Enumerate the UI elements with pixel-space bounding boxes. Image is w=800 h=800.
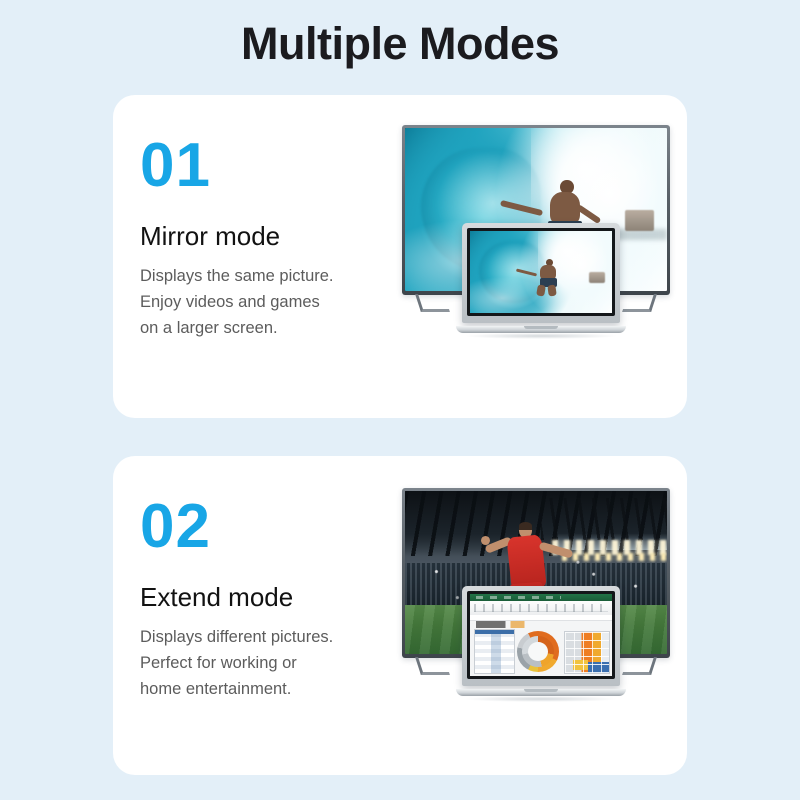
card-text-block-2: 02 Extend mode Displays different pictur… bbox=[140, 498, 390, 702]
shoreline-rock bbox=[625, 210, 654, 231]
desc-line: home entertainment. bbox=[140, 677, 390, 703]
mode-title-mirror: Mirror mode bbox=[140, 222, 390, 251]
laptop-lid bbox=[462, 223, 620, 323]
shoreline-rock bbox=[589, 272, 605, 283]
mode-description-mirror: Displays the same picture. Enjoy videos … bbox=[140, 264, 390, 341]
laptop-1 bbox=[456, 223, 626, 341]
mode-card-mirror: 01 Mirror mode Displays the same picture… bbox=[113, 95, 687, 418]
surfer-leg bbox=[536, 285, 546, 298]
player-arm-right bbox=[538, 542, 572, 559]
surfer-figure bbox=[527, 259, 572, 297]
donut-chart bbox=[517, 631, 560, 672]
laptop-lid bbox=[462, 586, 620, 686]
desc-line: Enjoy videos and games bbox=[140, 290, 390, 316]
desc-line: on a larger screen. bbox=[140, 316, 390, 342]
surfer-torso bbox=[550, 192, 580, 225]
laptop-2 bbox=[456, 586, 626, 704]
tv-foot-right bbox=[624, 294, 654, 310]
page-title: Multiple Modes bbox=[0, 18, 800, 70]
heatmap-cell-yellow bbox=[573, 660, 588, 670]
spreadsheet-title-bar bbox=[470, 594, 612, 601]
laptop-base bbox=[456, 689, 626, 696]
mode-description-extend: Displays different pictures. Perfect for… bbox=[140, 625, 390, 702]
laptop-base bbox=[456, 326, 626, 333]
device-scene-extend bbox=[394, 476, 679, 716]
card-text-block-1: 01 Mirror mode Displays the same picture… bbox=[140, 137, 390, 341]
spreadsheet-application bbox=[470, 594, 612, 676]
mode-card-extend: 02 Extend mode Displays different pictur… bbox=[113, 456, 687, 775]
laptop-bezel bbox=[467, 228, 615, 316]
spreadsheet-ribbon-toolbar bbox=[470, 601, 612, 616]
tv-foot-left bbox=[418, 294, 448, 310]
heatmap-grid-chart bbox=[564, 631, 610, 674]
card-number-01: 01 bbox=[140, 137, 390, 196]
tv-foot-right bbox=[624, 657, 654, 673]
mode-title-extend: Extend mode bbox=[140, 583, 390, 612]
laptop-bezel bbox=[467, 591, 615, 679]
sheet-heading-text bbox=[476, 621, 554, 628]
device-scene-mirror bbox=[394, 113, 679, 353]
laptop-shadow bbox=[464, 333, 618, 339]
desc-line: Displays the same picture. bbox=[140, 264, 390, 290]
desc-line: Perfect for working or bbox=[140, 651, 390, 677]
surfer-leg bbox=[547, 285, 557, 297]
heatmap-cell-blue bbox=[588, 662, 609, 673]
laptop-shadow bbox=[464, 696, 618, 702]
desc-line: Displays different pictures. bbox=[140, 625, 390, 651]
player-hair bbox=[519, 522, 533, 530]
tv-foot-left bbox=[418, 657, 448, 673]
card-number-02: 02 bbox=[140, 498, 390, 557]
data-table bbox=[474, 629, 514, 674]
laptop-screen-spreadsheet bbox=[470, 594, 612, 676]
laptop-screen-surf bbox=[470, 231, 612, 313]
surf-wave-image-mirrored bbox=[470, 231, 612, 313]
